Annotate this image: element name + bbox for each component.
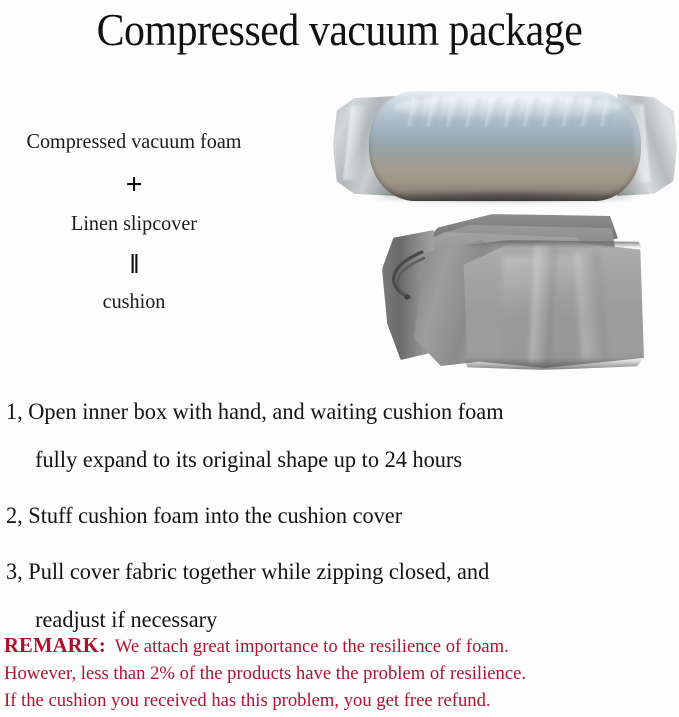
step-1-line-1: 1, Open inner box with hand, and waiting… — [6, 388, 652, 436]
plus-icon: + — [0, 162, 268, 208]
fabric-bottom-edge — [464, 358, 644, 370]
folded-linen-slipcover-image — [382, 212, 644, 376]
roll-plastic-creases — [407, 97, 613, 127]
zipper-cord-icon — [386, 248, 430, 304]
remark-line-3: If the cushion you received has this pro… — [4, 687, 663, 714]
formula-result-cushion: cushion — [5, 286, 262, 316]
vacuum-packed-foam-roll-image — [333, 88, 677, 204]
remark-block: REMARK:We attach great importance to the… — [4, 632, 676, 714]
instruction-steps: 1, Open inner box with hand, and waiting… — [6, 388, 672, 644]
equals-icon: ‖ — [0, 242, 268, 286]
remark-label: REMARK: — [4, 633, 106, 657]
remark-line-2: However, less than 2% of the products ha… — [4, 660, 663, 687]
page-title: Compressed vacuum package — [24, 0, 655, 62]
roll-drop-shadow — [377, 192, 635, 202]
formula-term-foam: Compressed vacuum foam — [5, 126, 262, 156]
remark-text-1: We attach great importance to the resili… — [106, 636, 509, 657]
product-formula: Compressed vacuum foam + Linen slipcover… — [0, 126, 268, 316]
formula-term-slipcover: Linen slipcover — [5, 208, 262, 238]
step-1-line-2: fully expand to its original shape up to… — [6, 436, 652, 484]
step-3-line-1: 3, Pull cover fabric together while zipp… — [6, 548, 652, 596]
product-instruction-graphic: Compressed vacuum package Compressed vac… — [0, 0, 679, 717]
remark-line-1: REMARK:We attach great importance to the… — [4, 632, 663, 660]
step-2-line-1: 2, Stuff cushion foam into the cushion c… — [6, 492, 652, 540]
